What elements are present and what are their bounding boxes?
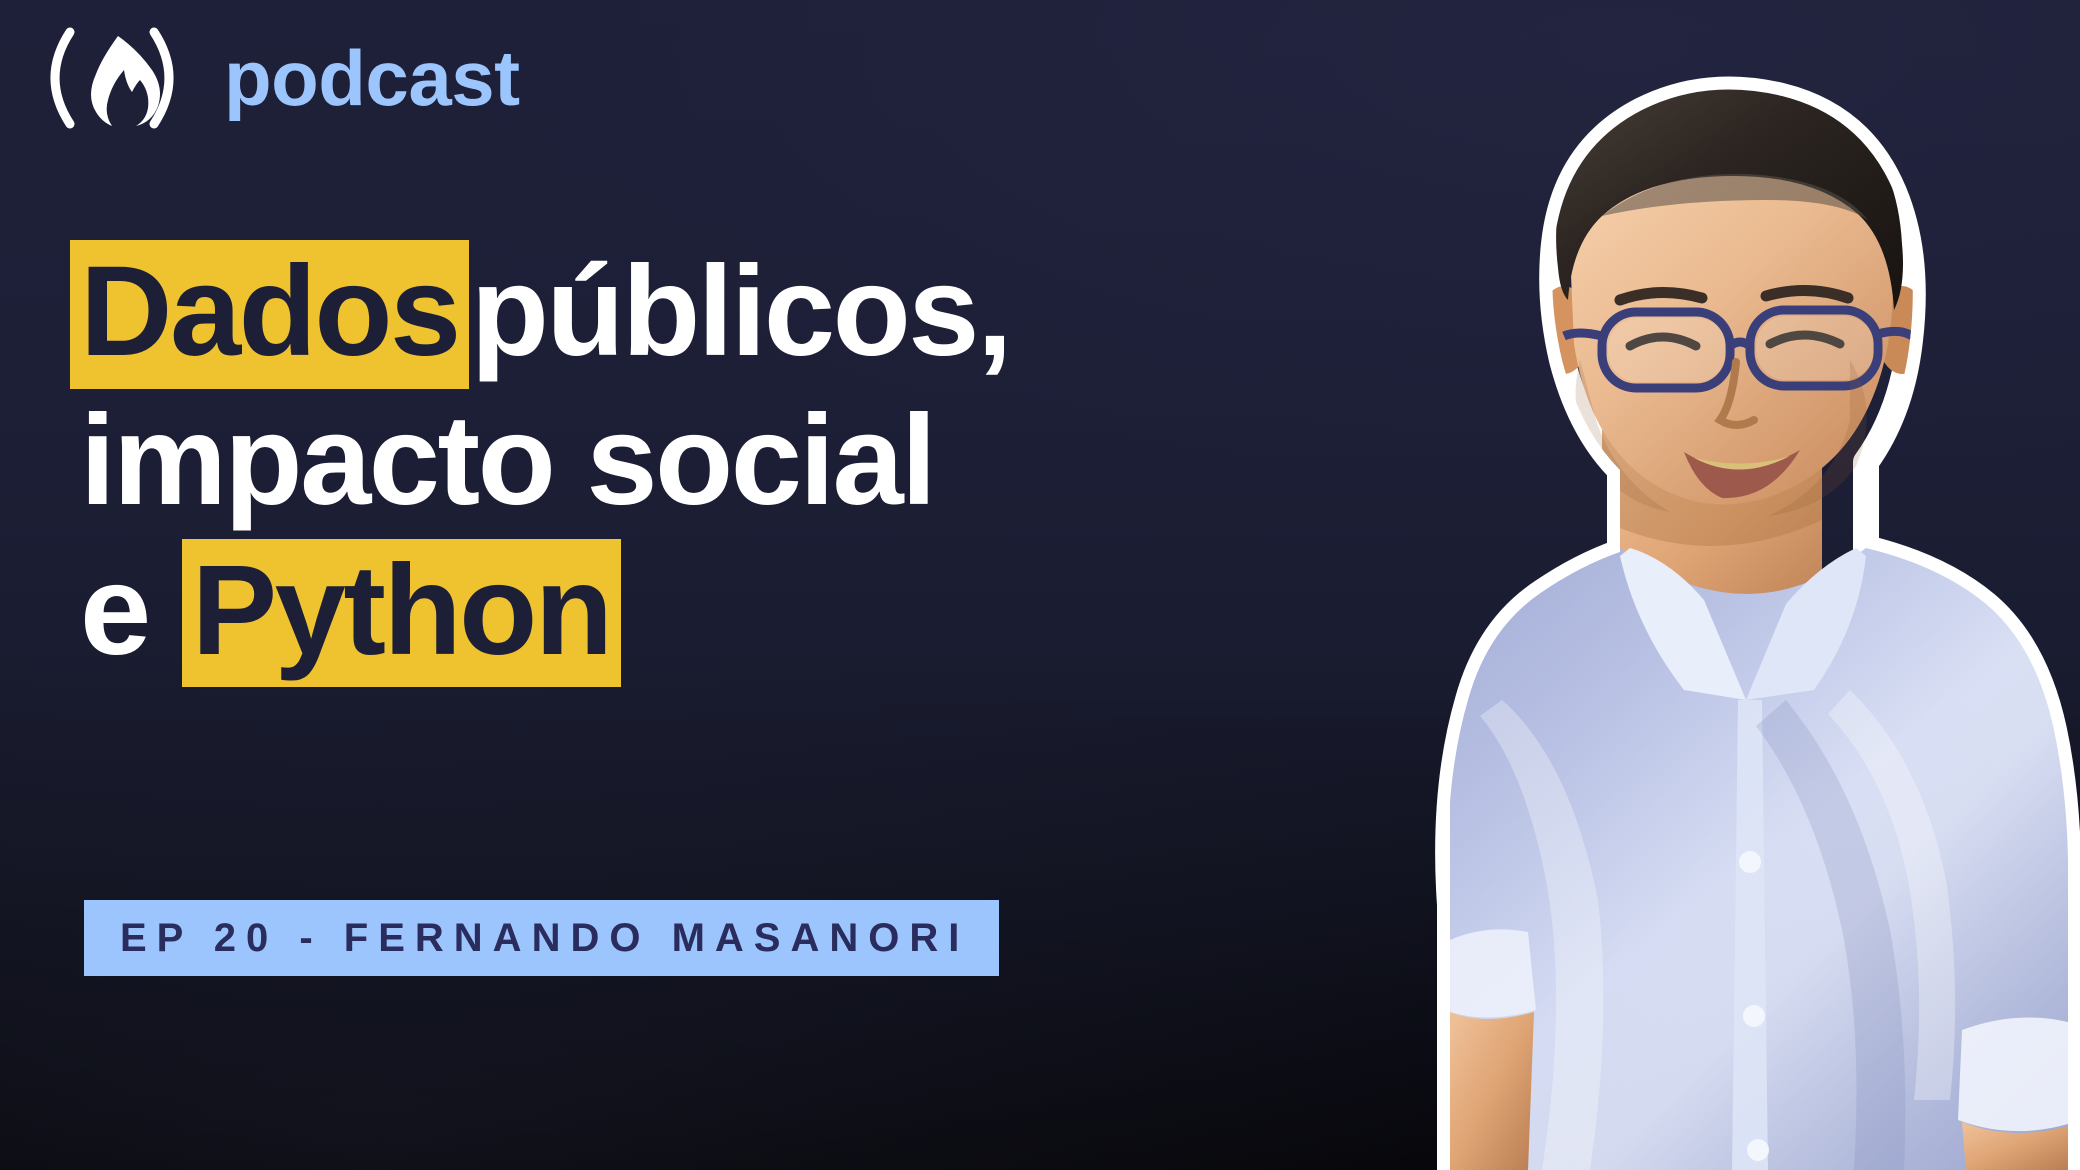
shirt-button <box>1743 1005 1765 1027</box>
guest-photo <box>1150 0 2080 1170</box>
shirt-button <box>1739 851 1761 873</box>
title-highlight-dados: Dados <box>70 240 469 389</box>
title-plain-impacto-social: impacto social <box>80 389 934 532</box>
title-line-2: impacto social <box>80 397 1140 525</box>
shirt-button <box>1747 1139 1769 1161</box>
title-plain-publicos: públicos, <box>471 240 1010 383</box>
brand-header: podcast <box>26 18 520 138</box>
sleeve-cuff-left <box>1450 929 1536 1017</box>
episode-title: Dadospúblicos, impacto social e Python <box>80 240 1140 687</box>
title-plain-e: e <box>80 539 182 682</box>
sleeve-cuff-right <box>1958 1018 2068 1132</box>
episode-badge: EP 20 - FERNANDO MASANORI <box>84 900 999 976</box>
brand-word-podcast: podcast <box>224 39 520 117</box>
freecodecamp-flame-logo <box>26 22 198 134</box>
podcast-thumbnail: podcast Dadospúblicos, impacto social e … <box>0 0 2080 1170</box>
title-line-1: Dadospúblicos, <box>80 240 1140 389</box>
title-line-3: e Python <box>80 539 1140 688</box>
forearm-left <box>1450 1012 1534 1170</box>
title-highlight-python: Python <box>182 539 621 688</box>
button-placket <box>1732 700 1768 1170</box>
